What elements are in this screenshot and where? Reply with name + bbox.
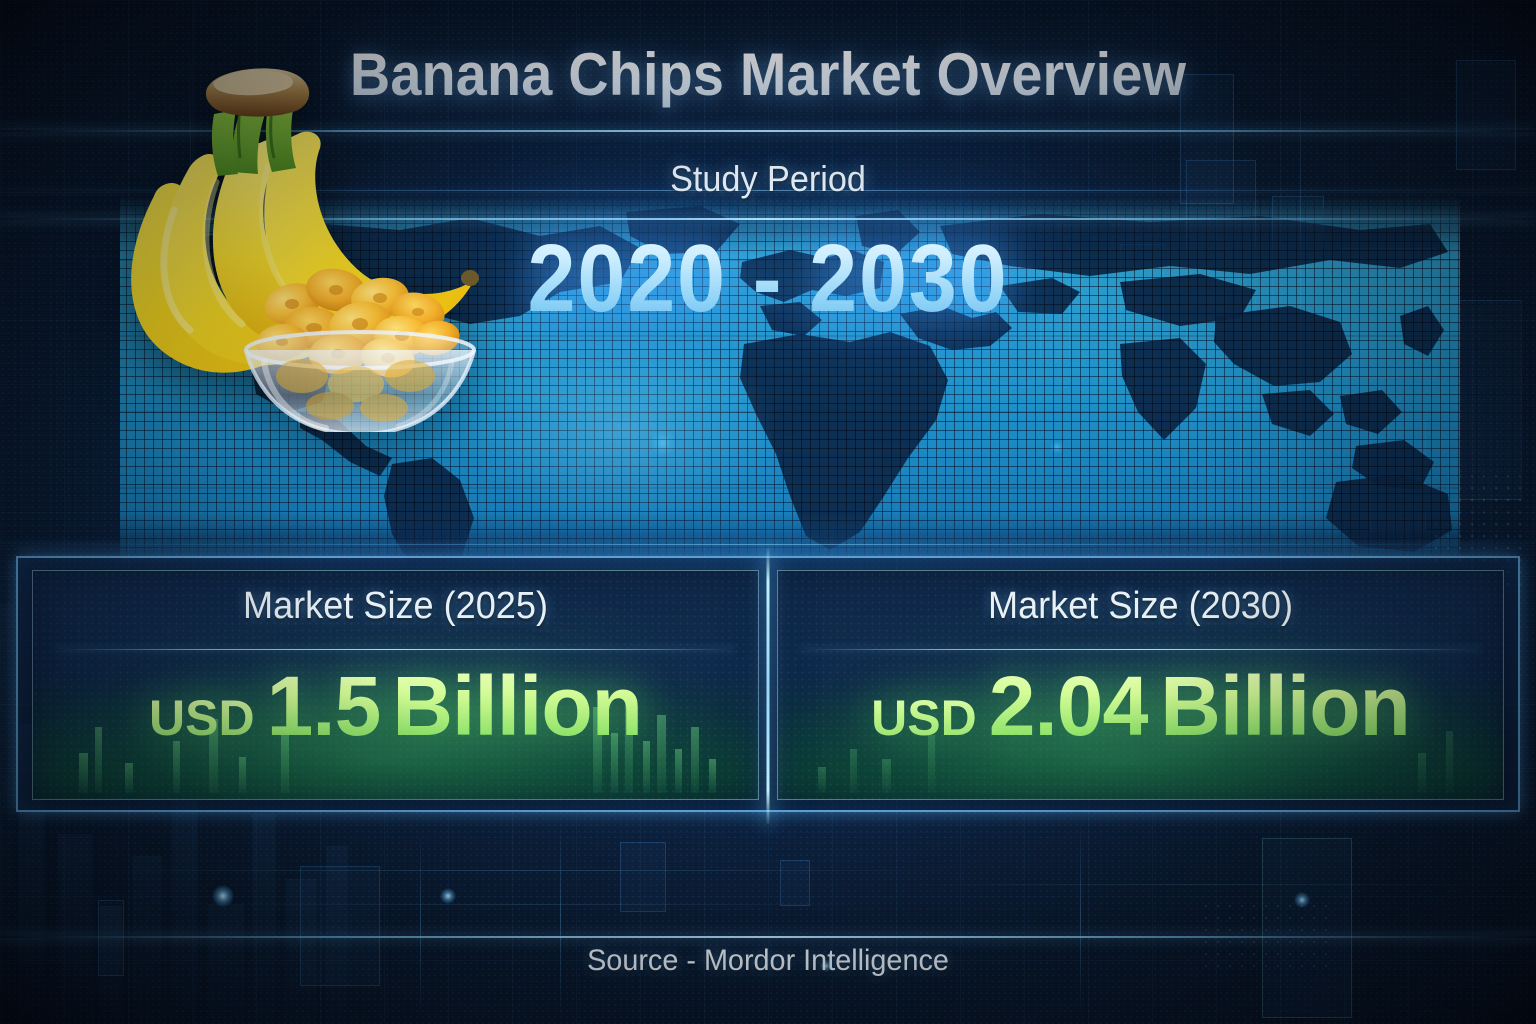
market-size-2030-card[interactable]: Market Size (2030) USD2.04Billion	[777, 570, 1504, 800]
tech-background-layer	[0, 0, 1536, 1024]
micro-bar	[125, 763, 133, 793]
micro-bar	[239, 757, 246, 793]
micro-bar	[1418, 753, 1426, 793]
micro-bar	[850, 749, 857, 793]
card-number-2030: 2.04	[989, 659, 1149, 753]
bg-vline	[420, 830, 421, 1020]
bg-hline	[60, 870, 960, 871]
divider-period-top	[0, 218, 1536, 220]
card-number-2025: 1.5	[267, 659, 381, 753]
scanline-overlay	[0, 0, 1536, 1024]
bg-bar	[132, 856, 162, 1024]
infographic-canvas: Banana Chips Market Overview Study Perio…	[0, 0, 1536, 1024]
micro-bar	[709, 759, 716, 793]
study-period-label: Study Period	[38, 158, 1497, 200]
micro-bar	[882, 759, 891, 793]
bg-hline	[180, 904, 880, 905]
card-unit-2030: Billion	[1160, 659, 1410, 753]
bg-spark	[212, 885, 234, 907]
card-title-2030: Market Size (2030)	[796, 585, 1485, 628]
source-attribution: Source - Mordor Intelligence	[31, 944, 1506, 978]
divider-map-bottom	[0, 544, 1536, 545]
world-map-glow	[461, 328, 781, 528]
bg-spark	[650, 430, 676, 456]
divider-above-footer	[0, 936, 1536, 938]
divider-under-title	[0, 130, 1536, 132]
micro-bar	[818, 767, 826, 793]
bg-tech-box	[780, 860, 810, 906]
market-size-2025-card[interactable]: Market Size (2025) USD1.5Billion	[32, 570, 759, 800]
vignette-overlay	[0, 0, 1536, 1024]
card-value-2025: USD1.5Billion	[33, 658, 758, 755]
page-title: Banana Chips Market Overview	[54, 40, 1482, 109]
card-unit-2025: Billion	[392, 659, 642, 753]
card-title-2025: Market Size (2025)	[51, 585, 740, 628]
bg-bar	[252, 814, 276, 1024]
bg-spark	[1050, 440, 1064, 454]
micro-bar	[675, 749, 682, 793]
card-currency-2030: USD	[871, 690, 977, 746]
bg-tech-box	[620, 842, 666, 912]
micro-bar	[79, 753, 88, 793]
dot-grid-overlay	[0, 0, 1536, 1024]
background-gridlines	[0, 0, 1536, 1024]
bg-bar	[326, 846, 348, 1024]
bg-tech-box	[1262, 838, 1352, 1018]
bg-spark	[1294, 892, 1310, 908]
bg-bar	[58, 834, 92, 1024]
bg-tech-box	[1240, 406, 1280, 502]
bg-spark	[440, 888, 456, 904]
cards-vertical-divider	[767, 548, 770, 824]
bg-bar	[0, 604, 14, 1024]
card-currency-2025: USD	[149, 690, 255, 746]
bg-tech-box	[1370, 420, 1426, 530]
bg-vline	[560, 820, 561, 1020]
card-value-2030: USD2.04Billion	[778, 658, 1503, 755]
study-period-value: 2020 - 2030	[77, 224, 1459, 334]
bg-hline	[900, 884, 1500, 885]
bg-vline	[1080, 820, 1081, 1020]
card-divider	[55, 649, 736, 650]
card-divider	[800, 649, 1481, 650]
